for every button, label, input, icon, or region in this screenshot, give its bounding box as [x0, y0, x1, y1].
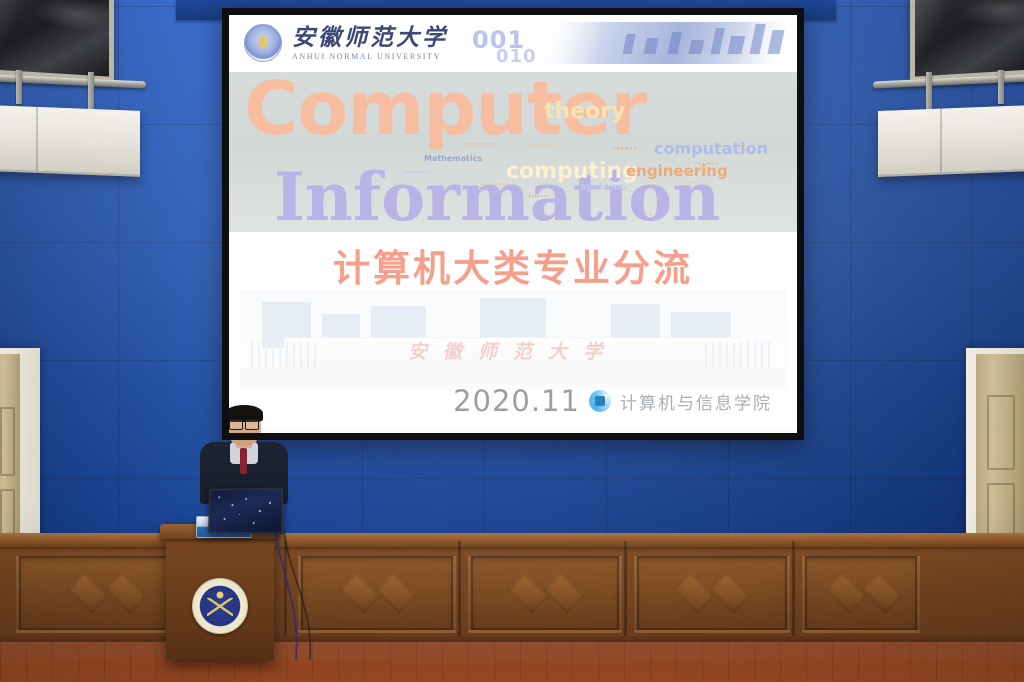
slide-lower-area: 计算机大类专业分流 安徽师范大学 2020.11 [228, 232, 798, 428]
word-systems: systems [580, 182, 626, 193]
lecture-hall-photo: 安徽师范大学 ANHUI NORMAL UNIVERSITY [0, 0, 1024, 682]
campus-photo: 安徽师范大学 [240, 290, 786, 390]
slide-header: 安徽师范大学 ANHUI NORMAL UNIVERSITY [228, 14, 798, 72]
door-panel [987, 395, 1016, 470]
projection-screen: 安徽师范大学 ANHUI NORMAL UNIVERSITY [222, 8, 804, 440]
campus-gate-text: 安徽师范大学 [240, 337, 786, 364]
diamond-motif [105, 572, 147, 614]
word-mathematics: Mathematics [424, 154, 482, 163]
wall-panel-right [878, 105, 1024, 177]
cable [270, 532, 350, 662]
stage-seam [792, 541, 795, 642]
slide-main-title: 计算机大类专业分流 [228, 238, 798, 292]
presenter-tie [240, 448, 247, 474]
campus-fence [705, 342, 775, 368]
binary-digits-bottom: 010 [496, 46, 537, 67]
floor-reflection [0, 642, 1024, 682]
department-logo-icon [589, 390, 611, 412]
word-cloud-filler: ······ [698, 160, 719, 170]
campus-fence [251, 342, 321, 368]
wall-display-right [910, 0, 1024, 82]
wall-panel-left [0, 105, 140, 177]
word-computation: computation [654, 139, 768, 158]
diamond-motif [861, 572, 903, 614]
university-name-en: ANHUI NORMAL UNIVERSITY [292, 53, 448, 61]
diamond-motif [67, 572, 109, 614]
word-cloud: Computer Information theory computing en… [228, 72, 798, 232]
stage-seam [624, 541, 627, 642]
panel-seam [940, 109, 942, 173]
university-seal-icon [244, 24, 282, 62]
stage-top-trim [0, 533, 1024, 547]
stage-floor [0, 642, 1024, 682]
stage-panel [802, 553, 920, 633]
diamond-motif [825, 572, 867, 614]
diamond-motif [709, 572, 751, 614]
word-cloud-filler: ······ [678, 178, 696, 187]
diamond-motif [375, 572, 417, 614]
podium-university-emblem-icon [192, 578, 248, 634]
word-cloud-filler: ·········· [480, 180, 510, 189]
handrail-post-left-a [16, 70, 22, 104]
slide-footer: 2020.11 计算机与信息学院 [453, 384, 772, 418]
word-cloud-filler: ······· [528, 192, 549, 201]
handrail-post-left-b [88, 72, 94, 110]
word-computing: computing [506, 159, 638, 184]
panel-seam [36, 107, 38, 171]
skyline-bars [538, 24, 796, 60]
word-cloud-filler: ·········· [460, 140, 494, 150]
university-name-block: 安徽师范大学 ANHUI NORMAL UNIVERSITY [292, 26, 448, 61]
presentation-slide: 安徽师范大学 ANHUI NORMAL UNIVERSITY [228, 14, 798, 434]
stage-panel [468, 553, 622, 633]
stage-front [0, 533, 1024, 648]
binary-decoration: 001 010 [468, 16, 798, 70]
door-panel [0, 407, 15, 476]
slide-department: 计算机与信息学院 [620, 389, 772, 414]
word-theory: theory [544, 99, 625, 124]
university-name-cn: 安徽师范大学 [292, 26, 448, 49]
diamond-motif [543, 572, 585, 614]
handrail-post-right-a [998, 70, 1004, 104]
handrail-post-right-b [926, 72, 932, 110]
glasses-icon [229, 419, 259, 428]
diamond-motif [673, 572, 715, 614]
presenter-mouth [239, 436, 248, 440]
word-cloud-filler: ······ [612, 142, 637, 155]
slide-date: 2020.11 [453, 384, 580, 418]
word-cloud-filler: ········ [404, 168, 428, 177]
podium: 陈付龙 [166, 524, 274, 660]
presenter-laptop[interactable] [208, 488, 283, 535]
laptop-wallpaper [210, 490, 281, 533]
stage-panel [634, 553, 790, 633]
stage-seam [458, 541, 461, 642]
diamond-motif [507, 572, 549, 614]
word-cloud-filler: ·········· [528, 142, 558, 151]
